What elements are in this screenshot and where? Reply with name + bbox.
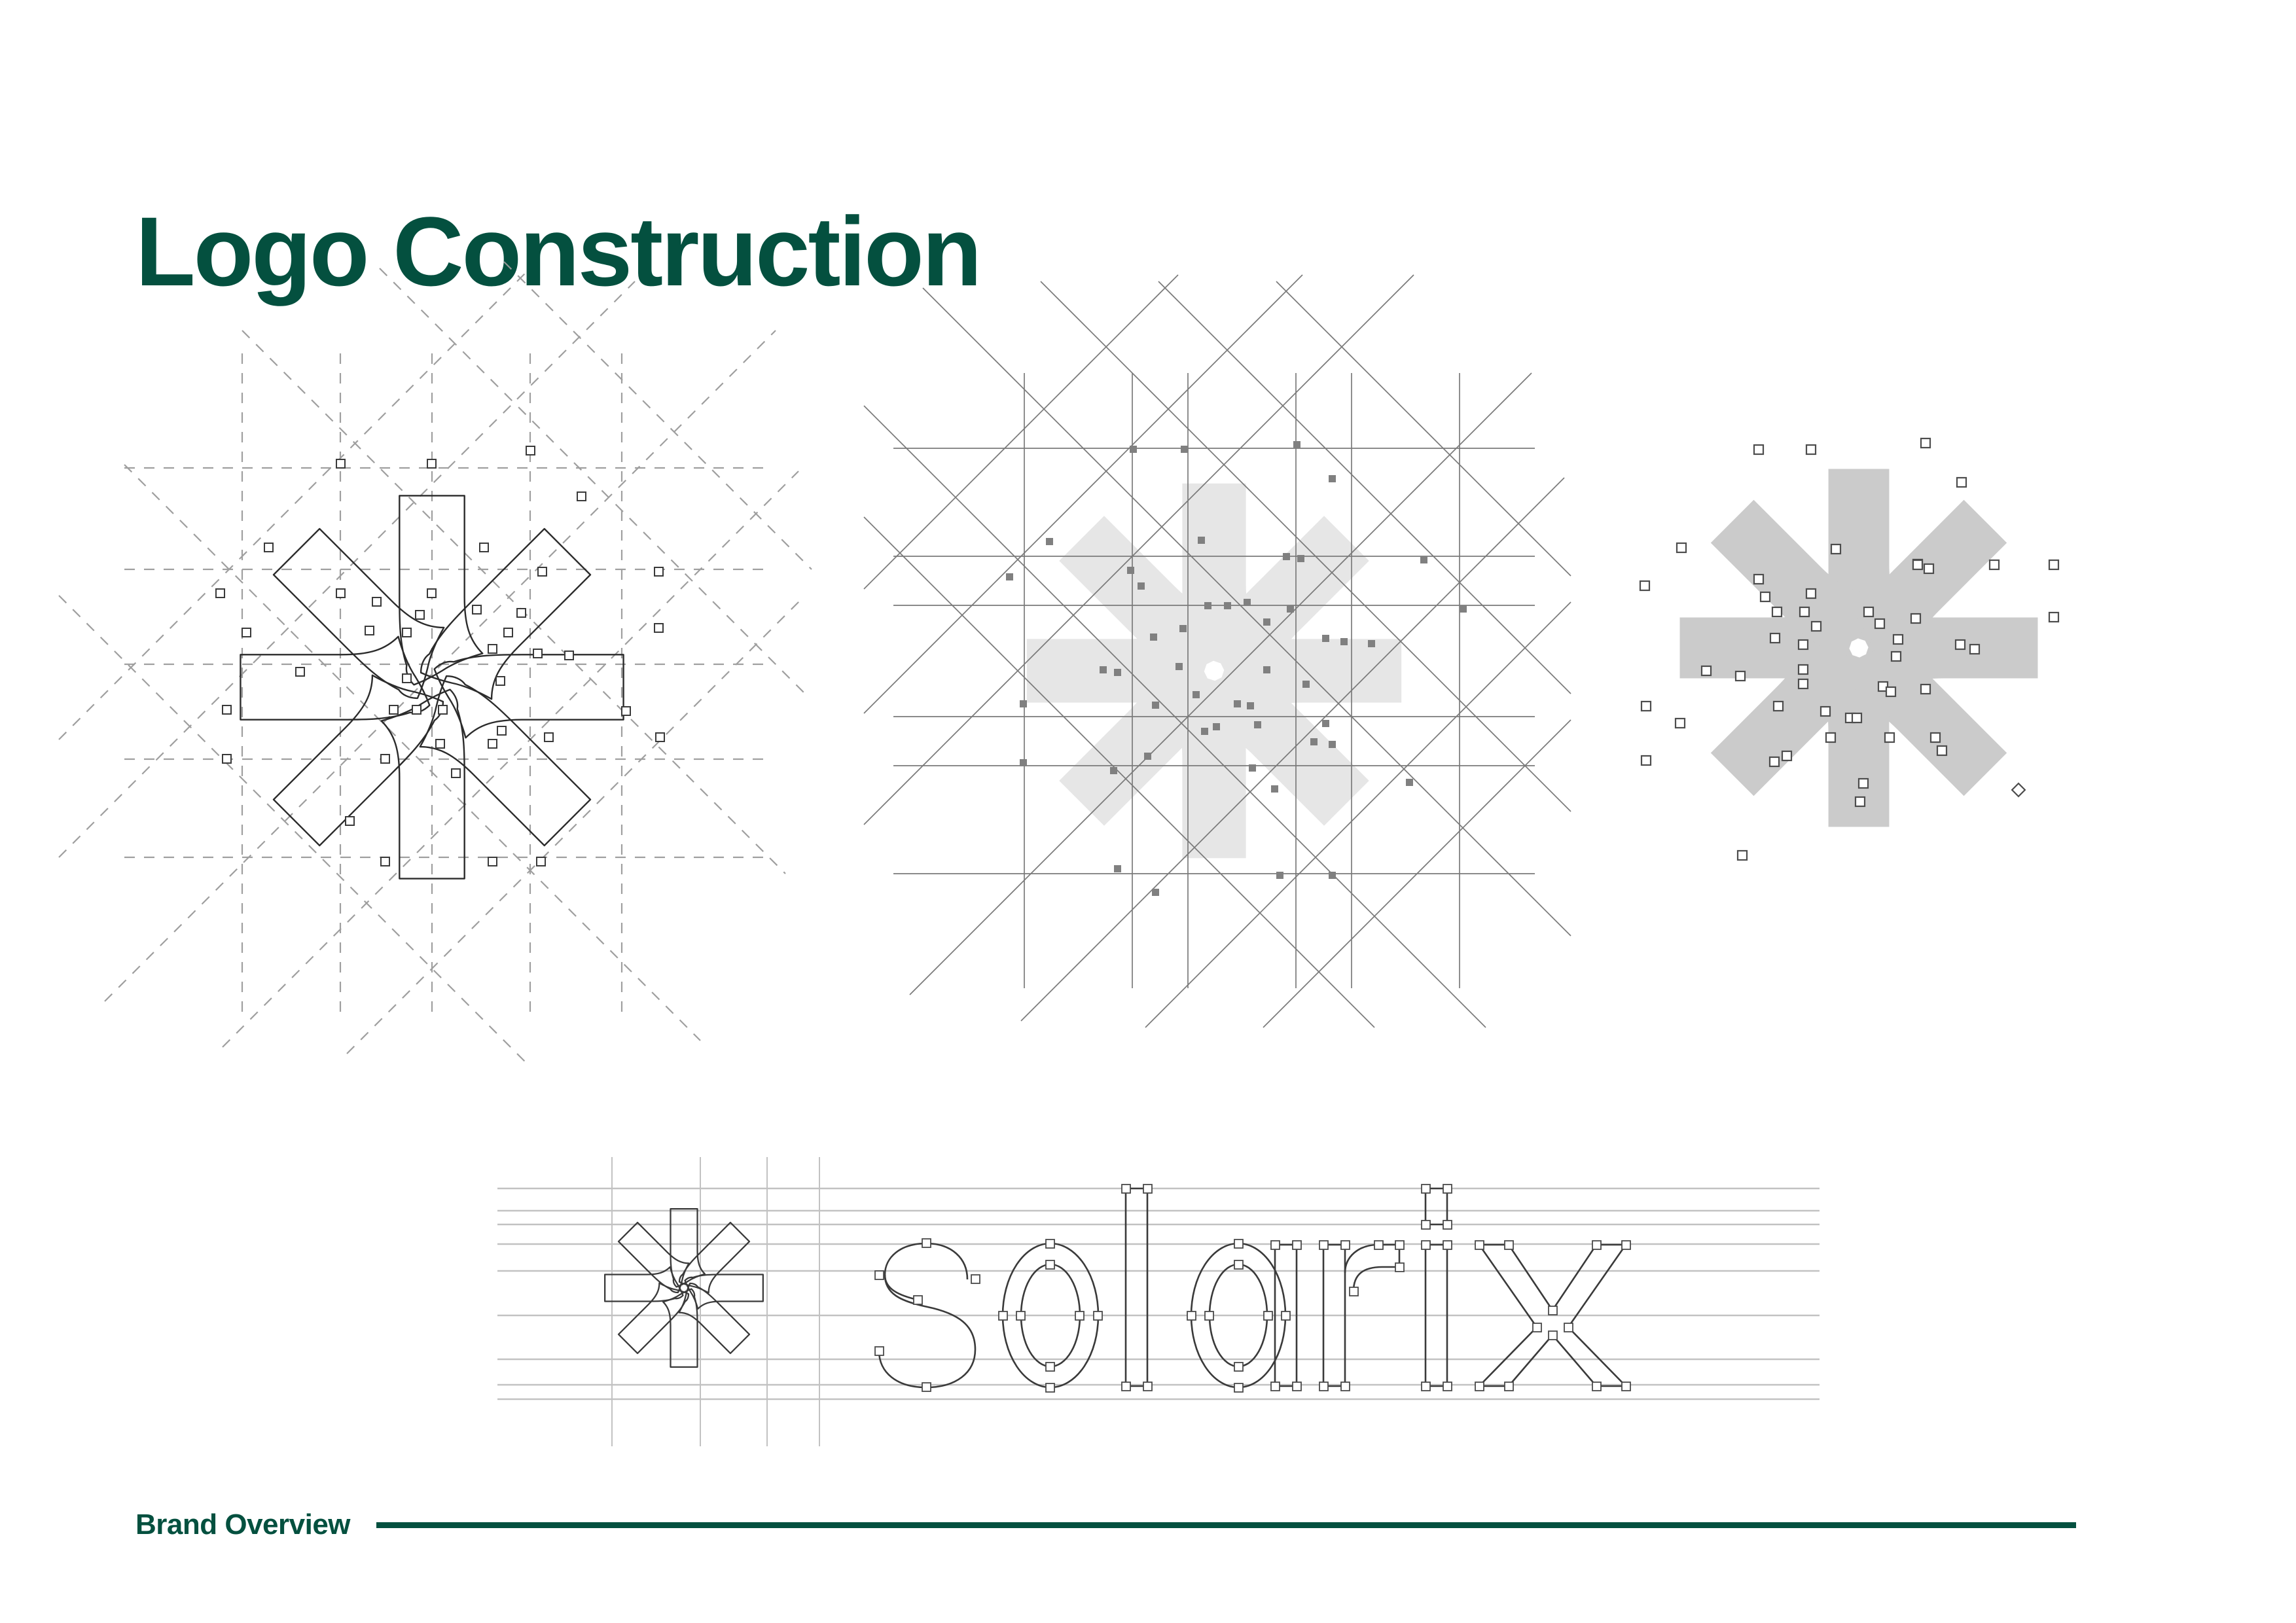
letter-outline-l [1126, 1188, 1147, 1386]
footer-rule [376, 1522, 2076, 1528]
brand-guideline-page: Logo Construction [0, 0, 2296, 1623]
logo-mark-fill [1027, 484, 1401, 858]
logo-solid-mark-diagram [1623, 432, 2094, 864]
logo-wireframe-construction-diagram [46, 281, 818, 1060]
logo-grid-construction-diagram [870, 327, 1558, 1014]
logo-wordmark-construction-diagram [497, 1139, 1820, 1459]
logo-mark-solid [1680, 469, 2038, 827]
footer-label: Brand Overview [135, 1508, 350, 1541]
wordmark-letter-outlines [879, 1188, 1626, 1387]
letter-outline-i [1426, 1188, 1447, 1386]
page-footer: Brand Overview [135, 1505, 2076, 1544]
wordmark-symbol-outline [605, 1209, 763, 1367]
construction-grid-dashed [59, 262, 812, 1067]
